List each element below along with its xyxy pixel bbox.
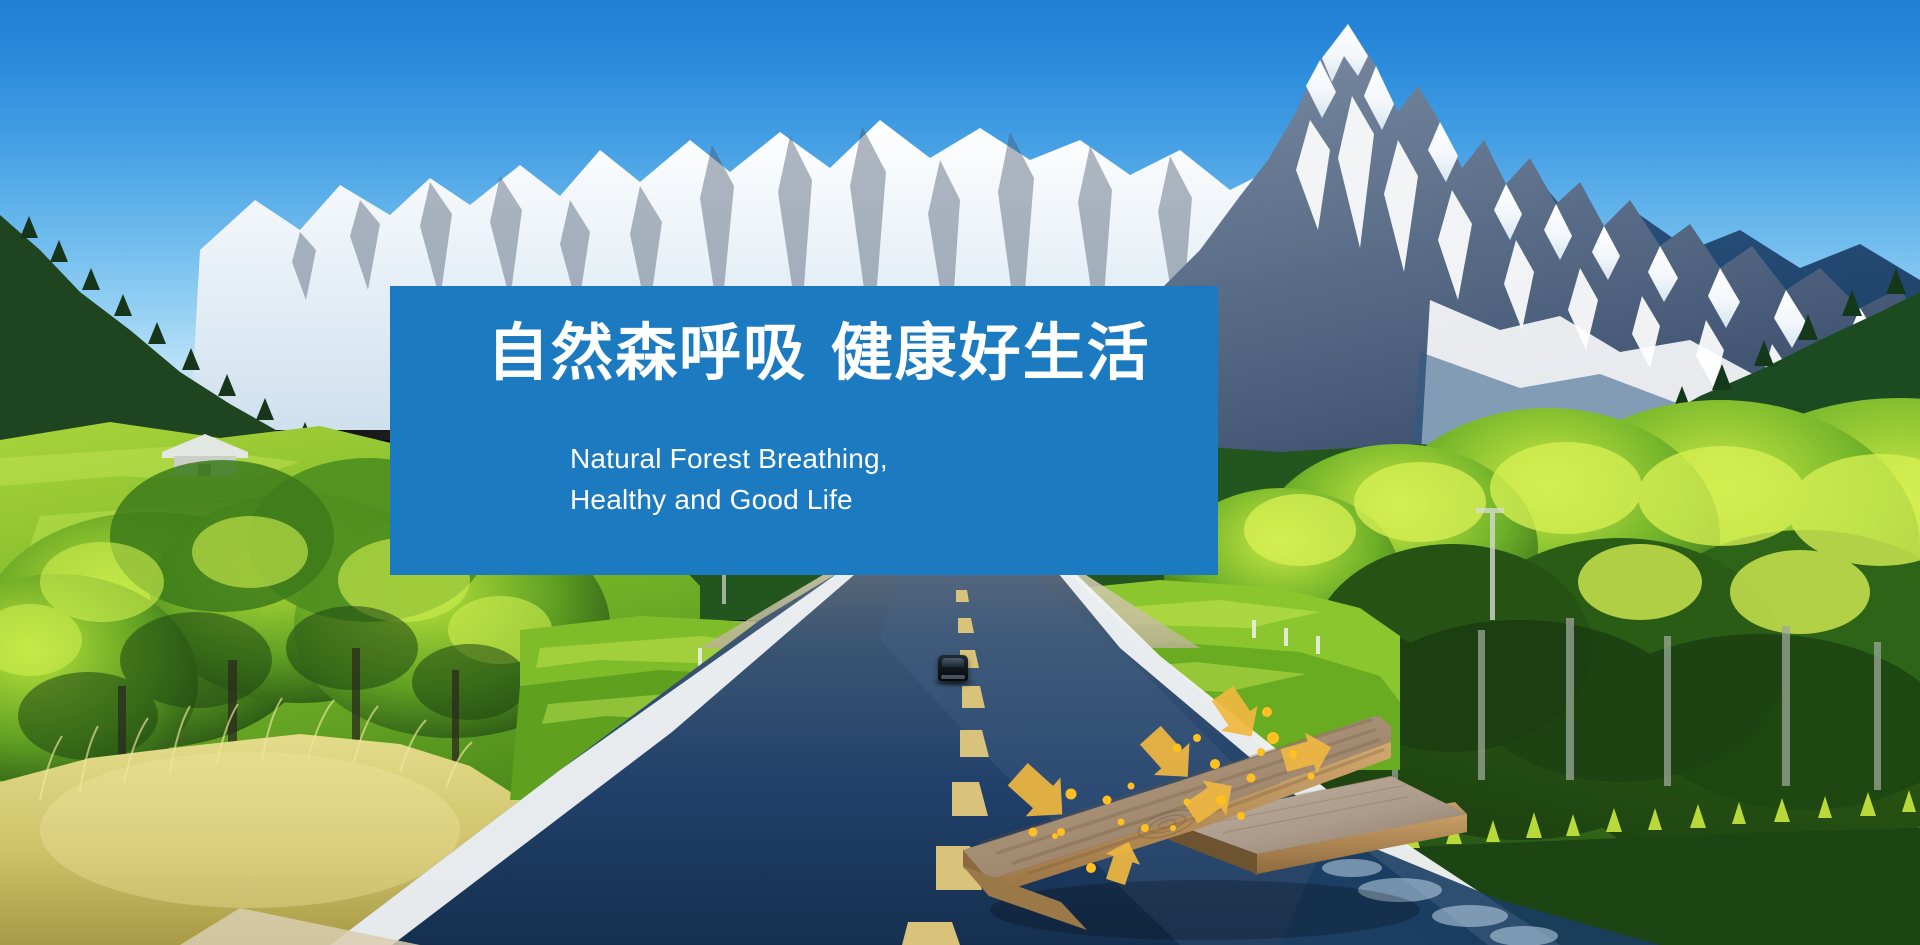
page-title: 自然森呼吸 健康好生活 (487, 318, 1151, 388)
hero-banner: 自然森呼吸 健康好生活 Natural Forest Breathing, He… (0, 0, 1920, 945)
vehicle-car (938, 655, 968, 681)
wood-plank-graphic (955, 680, 1475, 945)
page-subtitle: Natural Forest Breathing, Healthy and Go… (570, 438, 888, 520)
hero-text-panel: 自然森呼吸 健康好生活 Natural Forest Breathing, He… (390, 286, 1218, 575)
